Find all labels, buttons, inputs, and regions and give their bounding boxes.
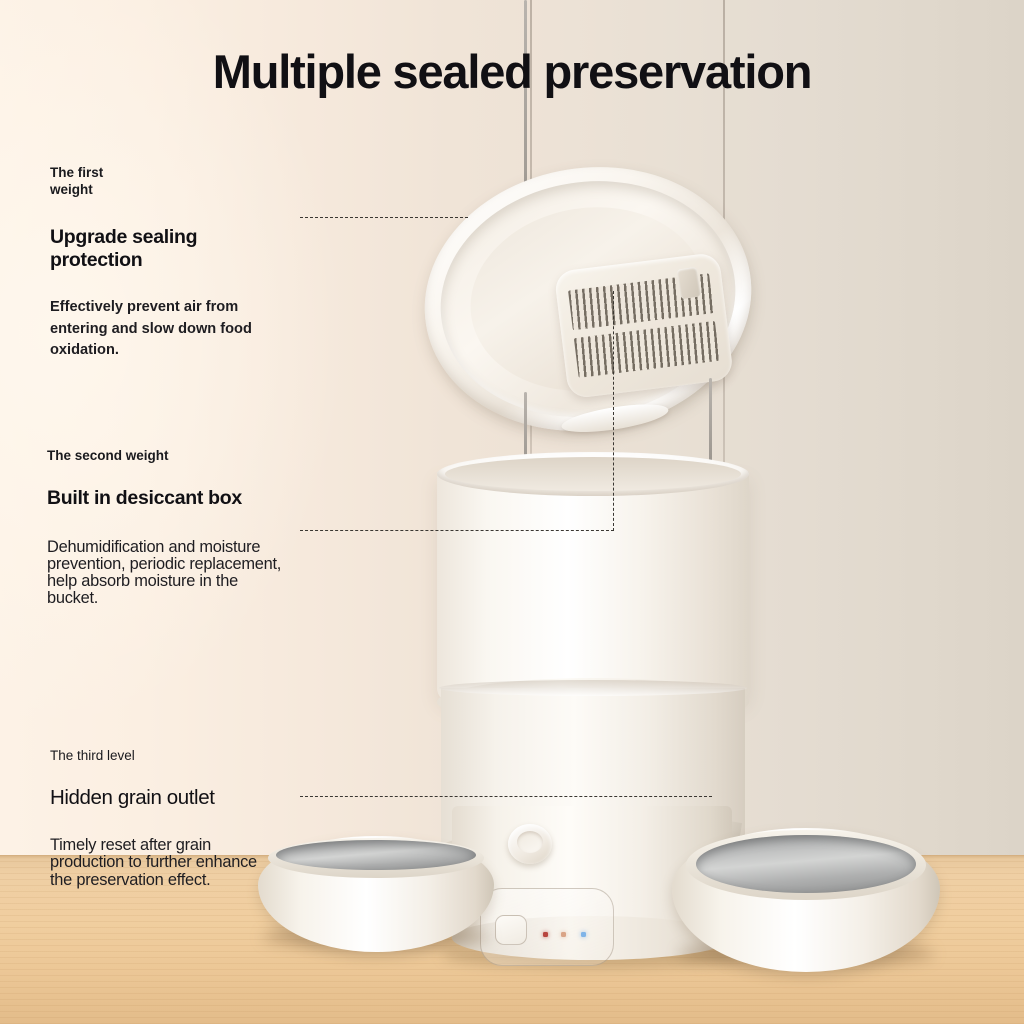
- feature-3-heading: Hidden grain outlet: [50, 786, 280, 811]
- left-bowl-steel-insert: [276, 840, 476, 870]
- hopper-upper-body: [437, 472, 749, 702]
- page-title: Multiple sealed preservation: [0, 44, 1024, 99]
- power-button[interactable]: [495, 915, 527, 945]
- desiccant-vent-box[interactable]: [554, 252, 734, 399]
- status-led-amber: [561, 932, 566, 937]
- food-hopper: [437, 452, 749, 864]
- leader-line-feature-1: [300, 217, 468, 218]
- feature-2-heading: Built in desiccant box: [47, 487, 287, 511]
- left-feeding-bowl: [258, 836, 494, 952]
- vent-slot-row-bottom: [574, 321, 720, 378]
- feature-1-eyebrow: The first weight: [50, 164, 265, 199]
- feature-3-eyebrow: The third level: [50, 747, 280, 764]
- status-led-blue: [581, 932, 586, 937]
- feature-block-3: The third level Hidden grain outlet Time…: [50, 747, 280, 890]
- hopper-opening: [445, 457, 741, 491]
- right-bowl-steel-insert: [696, 835, 916, 893]
- feature-3-body: Timely reset after grain production to f…: [50, 837, 280, 890]
- leader-line-feature-2-vertical: [613, 291, 614, 531]
- leader-line-feature-3: [300, 796, 712, 797]
- hopper-top-rim: [437, 452, 749, 496]
- feature-2-body: Dehumidification and moisture prevention…: [47, 539, 287, 607]
- feature-2-eyebrow: The second weight: [47, 447, 287, 464]
- feature-block-1: The first weight Upgrade sealing protect…: [50, 164, 265, 362]
- lid-outer-rim: [406, 144, 771, 454]
- control-panel[interactable]: [480, 888, 614, 966]
- dispense-knob[interactable]: [508, 824, 552, 864]
- feature-1-body: Effectively prevent air from entering an…: [50, 297, 265, 362]
- leader-line-feature-2: [300, 530, 614, 531]
- feature-1-heading: Upgrade sealing protection: [50, 226, 265, 274]
- lid-face: [457, 191, 719, 408]
- hopper-body-seam: [439, 680, 747, 696]
- lid-inner-rim: [424, 160, 753, 437]
- right-feeding-bowl: [672, 828, 940, 972]
- feature-block-2: The second weight Built in desiccant box…: [47, 447, 287, 607]
- status-led-red: [543, 932, 548, 937]
- sealed-lid[interactable]: [406, 144, 771, 454]
